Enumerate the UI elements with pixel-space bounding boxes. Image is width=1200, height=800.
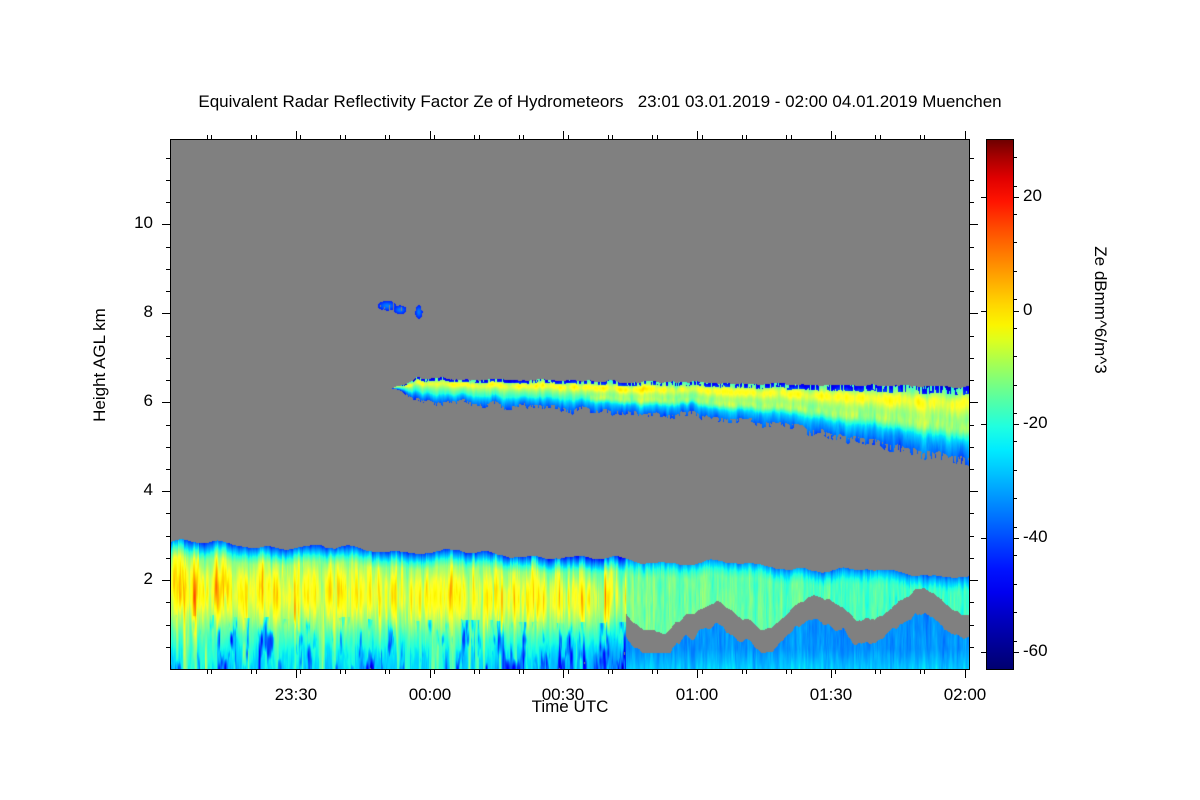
axis-tick [981,538,987,539]
axis-tick [162,491,171,492]
axis-tick [981,197,987,198]
axis-tick [742,669,743,674]
axis-tick [969,402,978,403]
axis-tick [1013,311,1019,312]
axis-tick [166,336,171,337]
axis-tick [162,313,171,314]
axis-tick [211,135,212,140]
axis-tick [1013,328,1017,329]
axis-tick [969,158,974,159]
axis-tick [1013,197,1019,198]
axis-tick [1013,652,1019,653]
axis-tick [835,669,836,674]
axis-tick [880,669,881,674]
colorbar-tick-label: 0 [1023,300,1032,320]
axis-tick [166,180,171,181]
axis-tick [1013,385,1017,386]
colorbar-tick-label: -60 [1023,641,1048,661]
axis-tick [523,135,524,140]
axis-tick [211,669,212,674]
axis-tick [474,135,475,140]
axis-tick [608,135,609,140]
colorbar-gradient [987,140,1013,669]
axis-tick [1013,299,1017,300]
axis-tick [697,131,698,140]
axis-tick [1013,527,1017,528]
axis-tick [523,669,524,674]
axis-tick [969,336,974,337]
colorbar [986,139,1014,670]
axis-tick [969,580,978,581]
axis-tick [166,625,171,626]
axis-tick [1013,612,1017,613]
y-axis-title: Height AGL km [90,255,110,475]
x-axis-tick-label: 00:00 [370,685,490,705]
axis-tick [568,135,569,140]
axis-tick [345,669,346,674]
axis-tick [340,669,341,674]
axis-tick [1013,424,1019,425]
axis-tick [296,131,297,140]
axis-tick [969,202,974,203]
axis-tick [434,669,435,674]
axis-tick [969,358,974,359]
axis-tick [702,135,703,140]
axis-tick [389,135,390,140]
axis-tick [831,131,832,140]
axis-tick [969,491,978,492]
axis-tick [1013,413,1017,414]
x-axis-tick-label: 01:00 [637,685,757,705]
axis-tick [166,469,171,470]
axis-tick [474,669,475,674]
axis-tick [1013,242,1017,243]
axis-tick [612,135,613,140]
colorbar-title: Ze dBmm^6/m^3 [1090,200,1110,420]
axis-tick [166,536,171,537]
axis-tick [568,669,569,674]
axis-tick [924,669,925,674]
axis-tick [162,580,171,581]
axis-tick [969,224,978,225]
axis-tick [479,669,480,674]
axis-tick [831,669,832,678]
axis-tick [920,135,921,140]
axis-tick [300,135,301,140]
axis-tick [652,669,653,674]
axis-tick [519,135,520,140]
axis-tick [166,291,171,292]
axis-tick [1013,498,1017,499]
axis-tick [166,247,171,248]
axis-tick [1013,584,1017,585]
axis-tick [875,135,876,140]
axis-tick [657,669,658,674]
axis-tick [702,669,703,674]
y-axis-tick-label: 10 [101,213,153,233]
axis-tick [969,602,974,603]
axis-tick [969,380,974,381]
axis-tick [256,135,257,140]
axis-tick [166,602,171,603]
axis-tick [166,158,171,159]
x-axis-tick-label: 02:00 [905,685,1025,705]
axis-tick [981,424,987,425]
axis-tick [479,135,480,140]
axis-tick [969,313,978,314]
page-title: Equivalent Radar Reflectivity Factor Ze … [0,92,1200,112]
axis-tick [1013,186,1017,187]
axis-tick [924,135,925,140]
axis-tick [969,625,974,626]
axis-tick [969,247,974,248]
axis-tick [742,135,743,140]
axis-tick [563,131,564,140]
axis-tick [791,669,792,674]
y-axis-tick-label: 6 [101,391,153,411]
axis-tick [746,669,747,674]
axis-tick [969,513,974,514]
axis-tick [969,447,974,448]
axis-tick [166,358,171,359]
y-axis-tick-label: 8 [101,302,153,322]
axis-tick [430,669,431,678]
axis-tick [697,669,698,678]
axis-tick [786,135,787,140]
axis-tick [519,669,520,674]
axis-tick [166,380,171,381]
axis-tick [746,135,747,140]
axis-tick [166,647,171,648]
axis-tick [166,269,171,270]
axis-tick [786,669,787,674]
radar-plot-page: Equivalent Radar Reflectivity Factor Ze … [0,0,1200,800]
axis-tick [166,558,171,559]
axis-tick [965,131,966,140]
axis-tick [251,135,252,140]
axis-tick [880,135,881,140]
axis-tick [969,469,974,470]
x-axis-tick-label: 01:30 [771,685,891,705]
axis-tick [1013,157,1017,158]
axis-tick [965,669,966,678]
radar-heatmap-canvas [171,140,969,669]
axis-tick [434,135,435,140]
axis-tick [1013,470,1017,471]
axis-tick [981,652,987,653]
axis-tick [166,513,171,514]
axis-tick [1013,641,1017,642]
axis-tick [608,669,609,674]
axis-tick [207,135,208,140]
axis-tick [969,558,974,559]
y-axis-tick-label: 2 [101,569,153,589]
axis-tick [969,291,974,292]
axis-tick [430,131,431,140]
axis-tick [875,669,876,674]
axis-tick [345,135,346,140]
axis-tick [389,669,390,674]
axis-tick [162,402,171,403]
axis-tick [296,669,297,678]
axis-tick [969,536,974,537]
axis-tick [340,135,341,140]
axis-tick [385,669,386,674]
y-axis-tick-label: 4 [101,480,153,500]
colorbar-tick-label: -40 [1023,527,1048,547]
axis-tick [1013,538,1019,539]
axis-tick [612,669,613,674]
axis-tick [207,669,208,674]
axis-tick [969,647,974,648]
axis-tick [162,224,171,225]
axis-tick [1013,214,1017,215]
colorbar-tick-label: 20 [1023,186,1042,206]
axis-tick [657,135,658,140]
x-axis-tick-label: 23:30 [236,685,356,705]
axis-tick [1013,356,1017,357]
axis-tick [969,269,974,270]
axis-tick [300,669,301,674]
axis-tick [969,180,974,181]
axis-tick [1013,441,1017,442]
axis-tick [251,669,252,674]
axis-tick [920,669,921,674]
axis-tick [385,135,386,140]
axis-tick [1013,271,1017,272]
plot-area [170,139,970,670]
axis-tick [969,425,974,426]
colorbar-tick-label: -20 [1023,413,1048,433]
axis-tick [791,135,792,140]
axis-tick [981,311,987,312]
axis-tick [563,669,564,678]
axis-tick [256,669,257,674]
x-axis-tick-label: 00:30 [503,685,623,705]
axis-tick [166,447,171,448]
axis-tick [835,135,836,140]
axis-tick [652,135,653,140]
axis-tick [166,202,171,203]
axis-tick [1013,555,1017,556]
axis-tick [166,425,171,426]
